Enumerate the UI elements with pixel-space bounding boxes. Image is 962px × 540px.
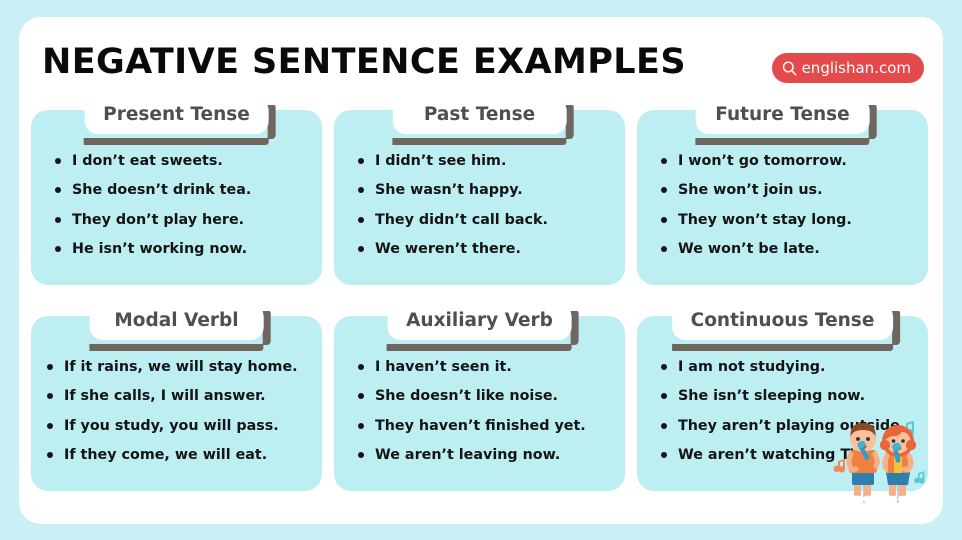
card-header-tab: Past Tense	[392, 98, 567, 134]
card-header-shadow	[392, 138, 567, 145]
sentence-text: I didn’t see him.	[375, 153, 506, 169]
bullet-icon	[55, 187, 61, 193]
list-item: We aren’t watching TV.	[661, 448, 918, 462]
list-item: They didn’t call back.	[358, 213, 615, 227]
sentence-text: If it rains, we will stay home.	[64, 359, 298, 375]
card-modal-verb: Modal Verbl If it rains, we will stay ho…	[31, 316, 322, 491]
sentence-text: I am not studying.	[678, 359, 825, 375]
card-title: Auxiliary Verb	[406, 309, 553, 334]
sentence-text: They aren’t playing outside.	[678, 418, 905, 434]
bullet-icon	[358, 217, 364, 223]
card-header: Modal Verbl	[89, 304, 264, 345]
card-header-edge	[869, 105, 877, 139]
list-item: They aren’t playing outside.	[661, 419, 918, 433]
list-item: We weren’t there.	[358, 242, 615, 256]
list-item: She doesn’t drink tea.	[55, 183, 312, 197]
bullet-icon	[661, 158, 667, 164]
content-panel: NEGATIVE SENTENCE EXAMPLES englishan.com…	[19, 17, 943, 524]
bullet-icon	[55, 158, 61, 164]
list-item: If you study, you will pass.	[47, 419, 312, 433]
sentence-list: I didn’t see him. She wasn’t happy. They…	[334, 154, 625, 256]
bullet-icon	[47, 452, 53, 458]
sentence-text: If they come, we will eat.	[64, 447, 267, 463]
sentence-text: If she calls, I will answer.	[64, 388, 266, 404]
page-title: NEGATIVE SENTENCE EXAMPLES	[42, 42, 686, 82]
list-item: If she calls, I will answer.	[47, 389, 312, 403]
card-header-shadow	[84, 138, 269, 145]
card-header-edge	[268, 105, 276, 139]
card-header-tab: Continuous Tense	[672, 304, 894, 340]
card-header: Future Tense	[695, 98, 870, 139]
card-header-tab: Modal Verbl	[89, 304, 264, 340]
sentence-text: They don’t play here.	[72, 212, 244, 228]
card-header-tab: Future Tense	[695, 98, 870, 134]
sentence-text: I haven’t seen it.	[375, 359, 512, 375]
list-item: She doesn’t like noise.	[358, 389, 615, 403]
card-header: Present Tense	[84, 98, 269, 139]
bullet-icon	[55, 246, 61, 252]
list-item: I won’t go tomorrow.	[661, 154, 918, 168]
card-header-edge	[892, 311, 900, 345]
card-header: Past Tense	[392, 98, 567, 139]
card-continuous-tense: Continuous Tense I am not studying. She …	[637, 316, 928, 491]
sentence-text: We weren’t there.	[375, 241, 521, 257]
card-header-tab: Auxiliary Verb	[387, 304, 572, 340]
sentence-text: She isn’t sleeping now.	[678, 388, 865, 404]
list-item: They haven’t finished yet.	[358, 419, 615, 433]
card-header-tab: Present Tense	[84, 98, 269, 134]
list-item: I haven’t seen it.	[358, 360, 615, 374]
sentence-text: She wasn’t happy.	[375, 182, 523, 198]
list-item: She isn’t sleeping now.	[661, 389, 918, 403]
card-grid: Present Tense I don’t eat sweets. She do…	[31, 110, 931, 491]
card-auxiliary-verb: Auxiliary Verb I haven’t seen it. She do…	[334, 316, 625, 491]
sentence-text: She won’t join us.	[678, 182, 823, 198]
card-header-shadow	[387, 344, 572, 351]
sentence-text: He isn’t working now.	[72, 241, 247, 257]
sentence-text: They haven’t finished yet.	[375, 418, 586, 434]
sentence-text: We aren’t leaving now.	[375, 447, 560, 463]
list-item: She wasn’t happy.	[358, 183, 615, 197]
sentence-text: If you study, you will pass.	[64, 418, 279, 434]
card-header-edge	[571, 311, 579, 345]
card-header-shadow	[672, 344, 894, 351]
card-header-shadow	[89, 344, 264, 351]
poster-header: NEGATIVE SENTENCE EXAMPLES englishan.com	[19, 17, 943, 103]
bullet-icon	[358, 158, 364, 164]
sentence-text: We aren’t watching TV.	[678, 447, 865, 463]
sentence-list: I haven’t seen it. She doesn’t like nois…	[334, 360, 625, 462]
card-title: Past Tense	[411, 103, 548, 128]
sentence-text: They didn’t call back.	[375, 212, 548, 228]
bullet-icon	[358, 423, 364, 429]
brand-label: englishan.com	[802, 61, 911, 76]
brand-badge[interactable]: englishan.com	[772, 53, 924, 83]
bullet-icon	[358, 364, 364, 370]
card-header-edge	[566, 105, 574, 139]
card-past-tense: Past Tense I didn’t see him. She wasn’t …	[334, 110, 625, 285]
sentence-list: I don’t eat sweets. She doesn’t drink te…	[31, 154, 322, 256]
bullet-icon	[47, 423, 53, 429]
list-item: We won’t be late.	[661, 242, 918, 256]
list-item: We aren’t leaving now.	[358, 448, 615, 462]
sentence-text: I don’t eat sweets.	[72, 153, 223, 169]
card-future-tense: Future Tense I won’t go tomorrow. She wo…	[637, 110, 928, 285]
list-item: I don’t eat sweets.	[55, 154, 312, 168]
bullet-icon	[661, 393, 667, 399]
card-title: Continuous Tense	[691, 309, 875, 334]
bullet-icon	[358, 246, 364, 252]
sentence-list: If it rains, we will stay home. If she c…	[31, 360, 322, 462]
bullet-icon	[358, 452, 364, 458]
card-title: Future Tense	[714, 103, 851, 128]
card-header: Auxiliary Verb	[387, 304, 572, 345]
bullet-icon	[358, 187, 364, 193]
list-item: I am not studying.	[661, 360, 918, 374]
sentence-list: I won’t go tomorrow. She won’t join us. …	[637, 154, 928, 256]
sentence-text: She doesn’t drink tea.	[72, 182, 251, 198]
card-header-edge	[263, 311, 271, 345]
list-item: He isn’t working now.	[55, 242, 312, 256]
list-item: They won’t stay long.	[661, 213, 918, 227]
sentence-text: She doesn’t like noise.	[375, 388, 558, 404]
list-item: I didn’t see him.	[358, 154, 615, 168]
card-present-tense: Present Tense I don’t eat sweets. She do…	[31, 110, 322, 285]
list-item: She won’t join us.	[661, 183, 918, 197]
card-header-shadow	[695, 138, 870, 145]
bullet-icon	[661, 217, 667, 223]
search-icon	[781, 60, 798, 77]
bullet-icon	[661, 423, 667, 429]
sentence-text: They won’t stay long.	[678, 212, 852, 228]
bullet-icon	[661, 187, 667, 193]
card-title: Modal Verbl	[108, 309, 245, 334]
sentence-text: We won’t be late.	[678, 241, 820, 257]
list-item: They don’t play here.	[55, 213, 312, 227]
sentence-text: I won’t go tomorrow.	[678, 153, 847, 169]
card-header: Continuous Tense	[672, 304, 894, 345]
bullet-icon	[661, 246, 667, 252]
poster-canvas: NEGATIVE SENTENCE EXAMPLES englishan.com…	[0, 0, 962, 540]
list-item: If it rains, we will stay home.	[47, 360, 312, 374]
card-title: Present Tense	[103, 103, 250, 128]
bullet-icon	[358, 393, 364, 399]
list-item: If they come, we will eat.	[47, 448, 312, 462]
bullet-icon	[47, 364, 53, 370]
bullet-icon	[47, 393, 53, 399]
sentence-list: I am not studying. She isn’t sleeping no…	[637, 360, 928, 462]
bullet-icon	[661, 364, 667, 370]
bullet-icon	[55, 217, 61, 223]
bullet-icon	[661, 452, 667, 458]
